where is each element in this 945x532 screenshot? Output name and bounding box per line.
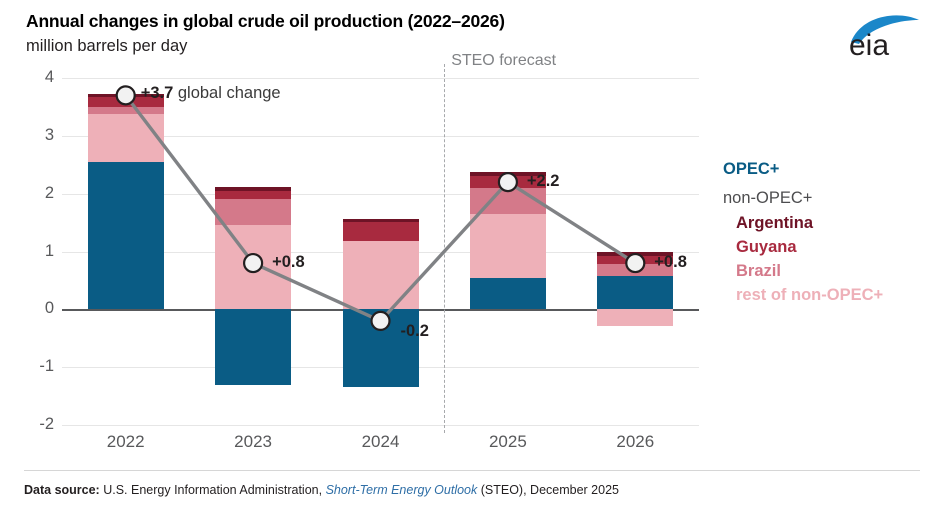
legend-item-guyana: Guyana (723, 235, 938, 259)
legend-item-rest-of-non-opec: rest of non-OPEC+ (723, 283, 938, 307)
legend-item-non-opec: non-OPEC+ (723, 186, 938, 211)
legend-item-argentina: Argentina (723, 211, 938, 235)
x-tick-label-2025: 2025 (448, 432, 568, 452)
y-tick-label: 2 (18, 184, 54, 203)
value-label-2022: +3.7 global change (141, 84, 281, 103)
data-source-note: Data source: U.S. Energy Information Adm… (24, 483, 619, 497)
data-source-publication-link[interactable]: Short-Term Energy Outlook (326, 483, 478, 497)
chart-legend: OPEC+ non-OPEC+ Argentina Guyana Brazil … (723, 158, 938, 308)
y-tick-label: 4 (18, 68, 54, 87)
data-source-suffix: (STEO), December 2025 (481, 483, 619, 497)
value-label-2025: +2.2 (527, 172, 560, 191)
value-label-2023: +0.8 (272, 253, 305, 272)
legend-item-opec: OPEC+ (723, 158, 938, 182)
x-tick-label-2023: 2023 (193, 432, 313, 452)
y-tick-label: -1 (18, 357, 54, 376)
footer-divider (24, 470, 920, 471)
y-tick-label: 3 (18, 126, 54, 145)
y-tick-label: 1 (18, 242, 54, 261)
x-tick-label-2026: 2026 (575, 432, 695, 452)
y-tick-label: 0 (18, 299, 54, 318)
x-tick-label-2024: 2024 (321, 432, 441, 452)
data-source-prefix: Data source: (24, 483, 100, 497)
line-series-label: global change (173, 84, 280, 102)
legend-item-brazil: Brazil (723, 259, 938, 283)
value-label-2024: -0.2 (401, 322, 429, 341)
data-source-agency: U.S. Energy Information Administration, (103, 483, 322, 497)
y-tick-label: -2 (18, 415, 54, 434)
forecast-annotation-label: STEO forecast (451, 52, 556, 70)
value-label-2026: +0.8 (654, 253, 687, 272)
x-tick-label-2022: 2022 (66, 432, 186, 452)
